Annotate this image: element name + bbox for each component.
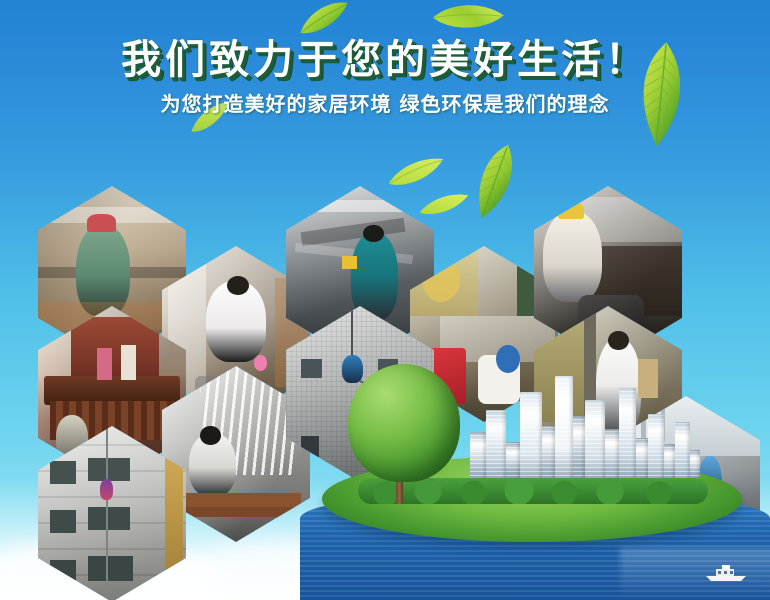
tree-crown xyxy=(348,364,460,482)
eco-island xyxy=(300,380,770,600)
skyscraper xyxy=(648,414,664,488)
worker-figure xyxy=(100,479,113,500)
skyscraper xyxy=(486,410,506,488)
skyscraper xyxy=(555,376,573,488)
skyscraper xyxy=(585,400,605,488)
worker-figure xyxy=(351,232,398,320)
skyscraper xyxy=(619,388,636,488)
leaf-mid-left-icon xyxy=(383,153,449,191)
page-subtitle: 为您打造美好的家居环境 绿色环保是我们的理念 xyxy=(0,92,770,116)
boat-icon xyxy=(704,564,748,582)
page-title: 我们致力于您的美好生活！ xyxy=(0,0,770,82)
skyscraper xyxy=(520,392,542,488)
banner-text-block: 我们致力于您的美好生活！ 为您打造美好的家居环境 绿色环保是我们的理念 xyxy=(0,0,770,116)
worker-figure xyxy=(543,211,602,303)
leaf-mid-center-icon xyxy=(456,134,530,229)
promotional-banner: 我们致力于您的美好生活！ 为您打造美好的家居环境 绿色环保是我们的理念 xyxy=(0,0,770,600)
